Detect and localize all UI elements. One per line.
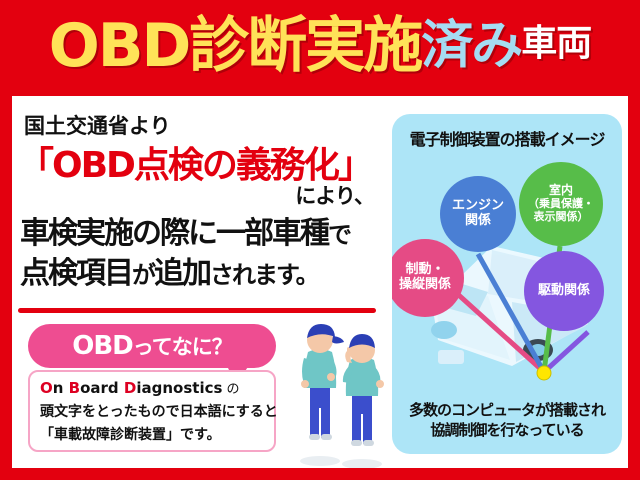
content-stage: 国土交通省より 「OBD点検の義務化」 により、 車検実施の際に一部車種で 点検… xyxy=(12,96,628,468)
inspection-line-1: 車検実施の際に一部車種で xyxy=(20,208,350,252)
bubble-brake-line1: 制動・ xyxy=(405,262,444,277)
panel-title: 電子制御装置の搭載イメージ xyxy=(392,126,622,150)
obd-particle-no: の xyxy=(222,382,239,397)
bubble-engine-line1: エンジン xyxy=(452,198,504,213)
inspection-line-1-main: 車検実施の際に一部車種 xyxy=(20,216,328,251)
inspection-line-1-tail: で xyxy=(328,221,350,249)
inspection-items: 点検項目 xyxy=(20,256,132,291)
obd-word-diagnostics: iagnostics xyxy=(136,379,222,397)
panel-footer: 多数のコンピュータが搭載され 協調制御を行なっている xyxy=(392,400,622,441)
obd-explainer: OBDってなに？ On Board Diagnostics の 頭文字をとったも… xyxy=(28,324,278,368)
bubble-drivetrain-label: 駆動関係 xyxy=(538,284,590,299)
obd-letter-d: D xyxy=(124,379,136,397)
inspection-ga: が xyxy=(132,261,154,289)
niyori-text: により、 xyxy=(295,180,374,210)
obd-word-on: n xyxy=(53,379,69,397)
obd-letter-o: O xyxy=(40,379,53,397)
bubble-interior-line3: 表示関係） xyxy=(528,211,594,224)
panel-footer-line2: 協調制御を行なっている xyxy=(430,421,583,439)
bubble-interior-line1: 室内 xyxy=(549,183,573,197)
inspection-saremasu: されます。 xyxy=(210,261,318,289)
obd-definition-line-2: 頭文字をとったもので日本語にすると xyxy=(40,401,278,421)
inspection-line-2: 点検項目が追加されます。 xyxy=(20,248,318,292)
people-illustration xyxy=(292,314,392,468)
obd-word-board: oard xyxy=(80,379,124,397)
obd-definition-box: On Board Diagnostics の 頭文字をとったもので日本語にすると… xyxy=(28,370,276,452)
bubble-engine-line2: 関係 xyxy=(465,213,491,228)
bubble-interior-line2: （乗員保護・ xyxy=(528,198,594,211)
banner-header: OBD診断実施 済み 車両 xyxy=(0,0,640,92)
red-divider xyxy=(18,308,376,313)
bubble-brake-line2: 操縦関係 xyxy=(399,277,451,292)
bubble-brake-label: 制動・ 操縦関係 xyxy=(399,263,451,293)
obd-question-kana: ってなに？ xyxy=(133,335,232,359)
left-column: 国土交通省より 「OBD点検の義務化」 により、 車検実施の際に一部車種で 点検… xyxy=(12,96,384,468)
obd-question-bubble: OBDってなに？ xyxy=(28,324,276,368)
obd-full-name: On Board Diagnostics の xyxy=(40,378,240,397)
bubble-interior: 室内 （乗員保護・ 表示関係） xyxy=(519,162,603,246)
header-sumi-text: 済み xyxy=(421,20,521,72)
bubble-engine: エンジン 関係 xyxy=(440,176,516,252)
panel-footer-line1: 多数のコンピュータが搭載され xyxy=(409,401,605,419)
header-vehicle-text: 車両 xyxy=(521,26,591,66)
ecu-diagram-panel: 電子制御装置の搭載イメージ xyxy=(392,114,622,454)
obd-letter-b: B xyxy=(69,379,80,397)
obd-banner: OBD診断実施 済み 車両 国土交通省より 「OBD点検の義務化」 により、 車… xyxy=(0,0,640,480)
bubble-drivetrain: 駆動関係 xyxy=(524,251,604,331)
bubble-interior-label: 室内 （乗員保護・ 表示関係） xyxy=(528,184,594,223)
obd-abbr: OBD xyxy=(72,331,133,361)
bubble-engine-label: エンジン 関係 xyxy=(452,199,504,229)
obd-definition-line-3: 「車載故障診断装置」です。 xyxy=(40,424,221,444)
header-main-text: OBD診断実施 xyxy=(49,16,422,76)
inspection-added: 追加 xyxy=(154,256,210,291)
obd-question-text: OBDってなに？ xyxy=(72,331,231,361)
